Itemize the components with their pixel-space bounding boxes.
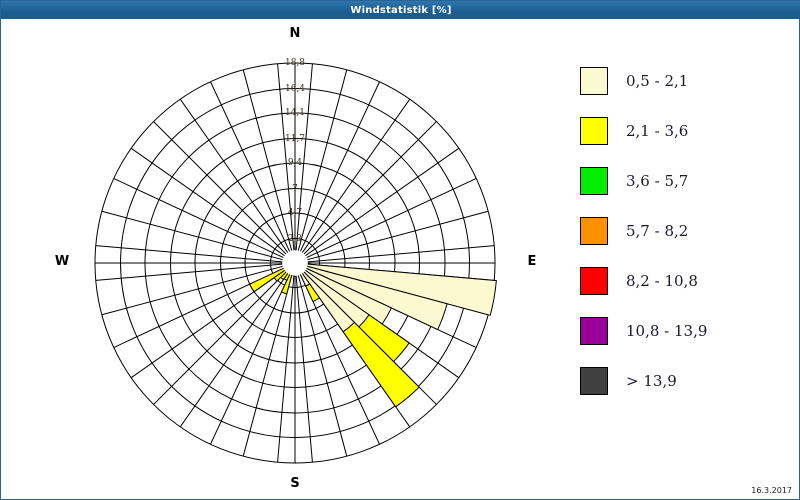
legend-row[interactable]: 10,8 - 13,9 — [580, 306, 790, 356]
window-title: Windstatistik [%] — [350, 5, 451, 16]
grid-spoke — [210, 275, 289, 445]
legend-label-6: > 13,9 — [626, 372, 677, 390]
chart-canvas: N E S W 2,34,779,411,714,116,418,8 0,5 -… — [2, 20, 798, 499]
grid-spoke — [114, 178, 284, 257]
legend-swatch-4 — [580, 267, 608, 295]
grid-spoke — [296, 276, 312, 463]
date-stamp: 16.3.2017 — [751, 486, 792, 495]
legend-row[interactable]: > 13,9 — [580, 356, 790, 406]
radial-tick-0: 2,3 — [275, 234, 315, 244]
legend-swatch-1 — [580, 117, 608, 145]
legend-label-5: 10,8 - 13,9 — [626, 322, 707, 340]
legend-swatch-5 — [580, 317, 608, 345]
legend-swatch-3 — [580, 217, 608, 245]
legend-label-4: 8,2 - 10,8 — [626, 272, 698, 290]
window-titlebar: Windstatistik [%] — [1, 1, 800, 19]
legend-label-1: 2,1 - 3,6 — [626, 122, 688, 140]
legend-swatch-6 — [580, 367, 608, 395]
legend-label-0: 0,5 - 2,1 — [626, 72, 688, 90]
windrose-petals — [250, 262, 497, 407]
radial-tick-6: 16,4 — [275, 84, 315, 94]
legend-row[interactable]: 5,7 - 8,2 — [580, 206, 790, 256]
compass-label-south: S — [275, 476, 315, 491]
compass-label-west: W — [42, 254, 82, 269]
compass-label-north: N — [275, 26, 315, 41]
radial-tick-5: 14,1 — [275, 108, 315, 118]
radial-tick-3: 9,4 — [275, 158, 315, 168]
legend-row[interactable]: 0,5 - 2,1 — [580, 56, 790, 106]
radial-tick-1: 4,7 — [275, 208, 315, 218]
radial-tick-2: 7 — [275, 184, 315, 194]
center-hole — [282, 250, 308, 276]
legend-row[interactable]: 3,6 - 5,7 — [580, 156, 790, 206]
legend-label-2: 3,6 - 5,7 — [626, 172, 688, 190]
windrose-window: Windstatistik [%] N E S W 2,34,779,411,7… — [0, 0, 800, 500]
legend-row[interactable]: 2,1 - 3,6 — [580, 106, 790, 156]
legend: 0,5 - 2,12,1 - 3,63,6 - 5,75,7 - 8,28,2 … — [580, 56, 790, 406]
radial-tick-7: 18,8 — [275, 58, 315, 68]
legend-row[interactable]: 8,2 - 10,8 — [580, 256, 790, 306]
grid-spoke — [96, 264, 283, 280]
legend-swatch-2 — [580, 167, 608, 195]
compass-label-east: E — [512, 254, 552, 269]
grid-spoke — [308, 246, 495, 262]
grid-spoke — [278, 276, 294, 463]
polar-center-hole — [282, 250, 308, 276]
legend-swatch-0 — [580, 67, 608, 95]
radial-tick-4: 11,7 — [275, 134, 315, 144]
legend-label-3: 5,7 - 8,2 — [626, 222, 688, 240]
grid-spoke — [96, 246, 283, 262]
grid-spoke — [307, 178, 477, 257]
